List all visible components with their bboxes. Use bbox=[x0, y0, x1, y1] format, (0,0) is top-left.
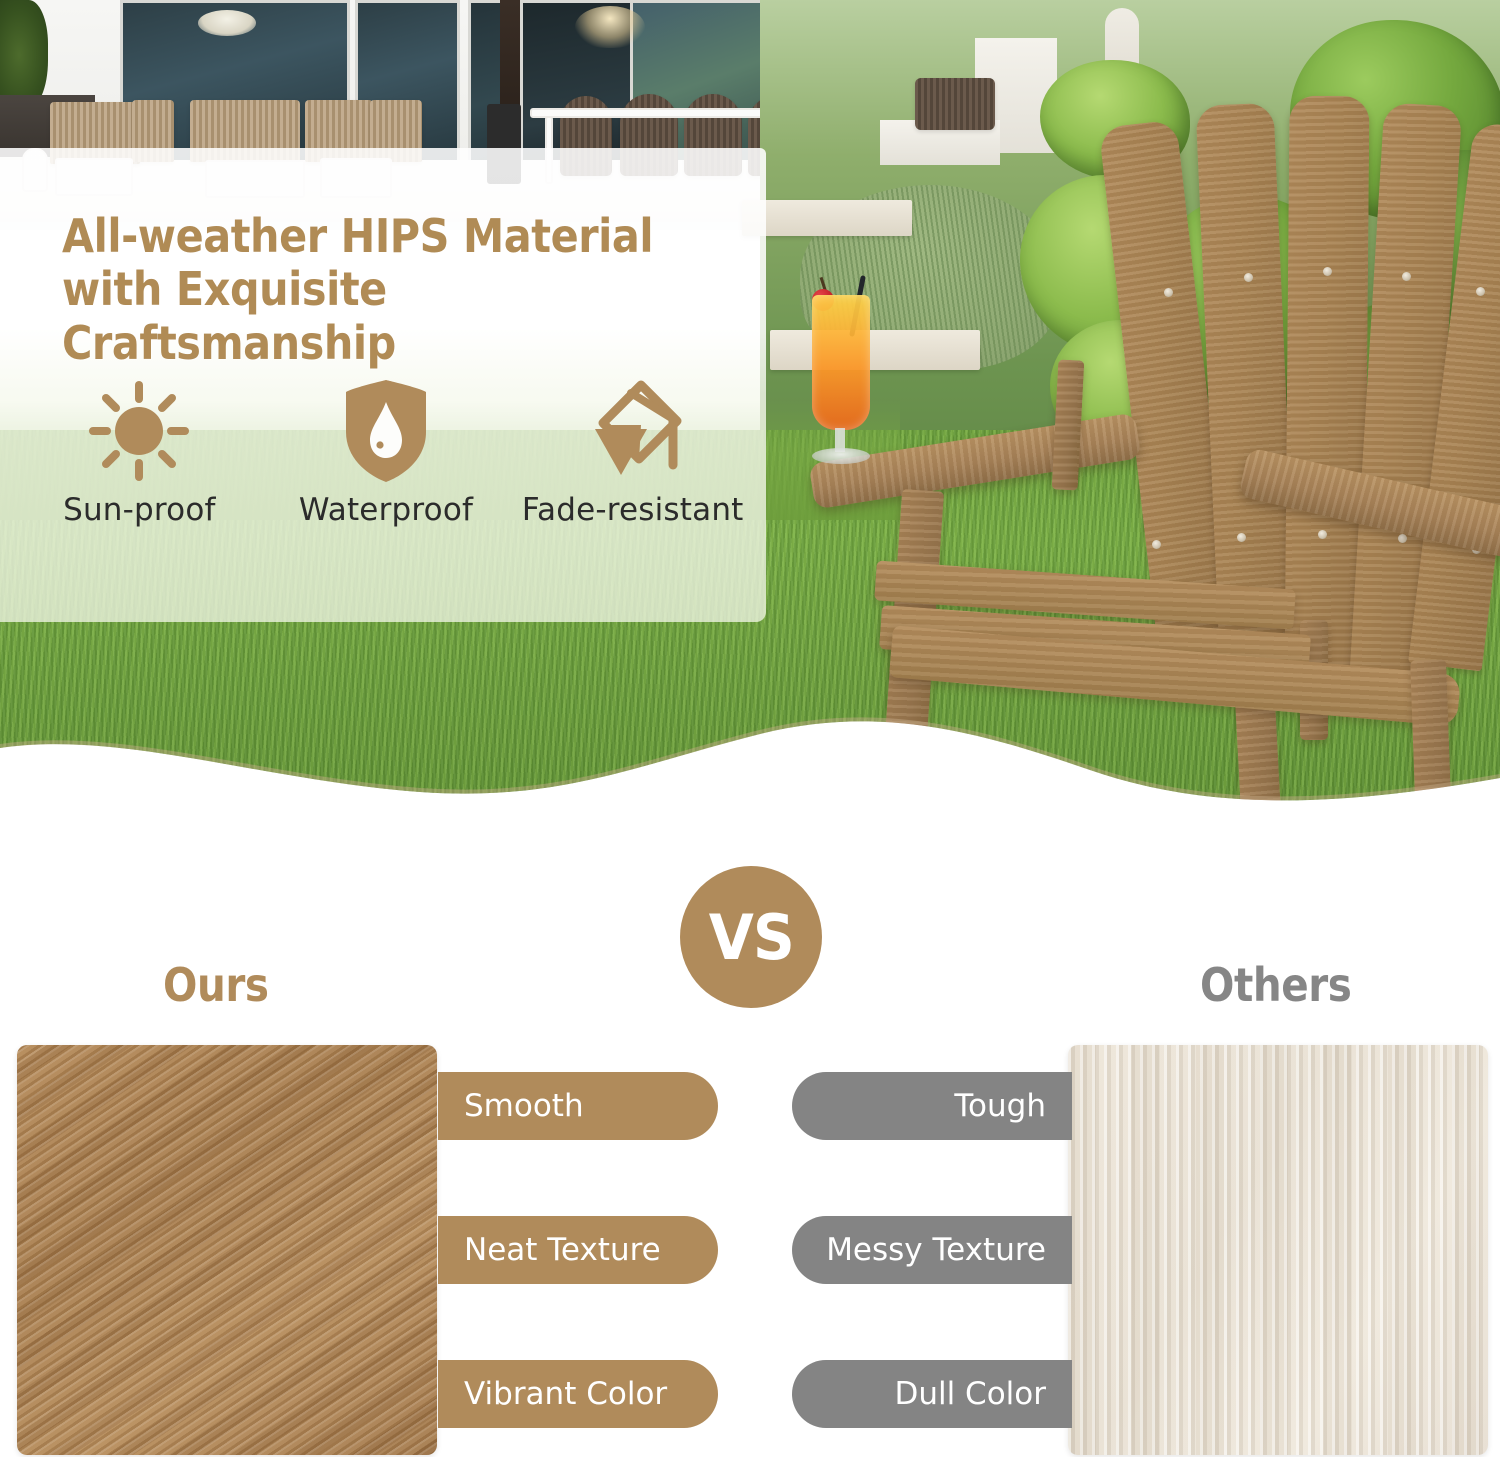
ours-pill-smooth: Smooth bbox=[438, 1072, 718, 1140]
ours-title: Ours bbox=[163, 958, 269, 1012]
headline-line-1: All-weather HIPS Material bbox=[62, 210, 683, 263]
shield-water-drop-icon bbox=[340, 376, 432, 486]
wave-divider bbox=[0, 660, 1500, 860]
sun-icon bbox=[87, 376, 191, 486]
others-title: Others bbox=[1200, 958, 1351, 1012]
feature-list: Sun-proof Waterproof bbox=[16, 376, 756, 528]
headline-line-2: with Exquisite Craftsmanship bbox=[62, 263, 683, 370]
chair-screw bbox=[1398, 534, 1407, 543]
feature-label: Sun-proof bbox=[63, 492, 216, 528]
ours-pill-vibrant-color: Vibrant Color bbox=[438, 1360, 718, 1428]
chair-screw bbox=[1402, 272, 1411, 281]
feature-overlay-panel: All-weather HIPS Material with Exquisite… bbox=[0, 148, 766, 622]
feature-label: Waterproof bbox=[299, 492, 473, 528]
chair-screw bbox=[1164, 288, 1173, 297]
chair-screw bbox=[1237, 533, 1246, 542]
feature-label: Fade-resistant bbox=[522, 492, 744, 528]
feature-sun-proof: Sun-proof bbox=[16, 376, 263, 528]
tree-foliage bbox=[0, 0, 48, 110]
vs-label: VS bbox=[708, 901, 793, 974]
product-infographic: All-weather HIPS Material with Exquisite… bbox=[0, 0, 1500, 1457]
ceiling-lamp bbox=[198, 10, 256, 36]
chair-support-left bbox=[1052, 359, 1085, 490]
pill-label: Smooth bbox=[464, 1088, 584, 1124]
page-title: All-weather HIPS Material with Exquisite… bbox=[62, 210, 683, 370]
cocktail-glass bbox=[812, 295, 870, 430]
chair-screw bbox=[1476, 287, 1485, 296]
paint-bucket-icon bbox=[581, 376, 685, 486]
glass-base bbox=[812, 448, 870, 464]
vs-badge: VS bbox=[680, 866, 822, 1008]
pill-label: Vibrant Color bbox=[464, 1376, 667, 1412]
ours-pill-neat-texture: Neat Texture bbox=[438, 1216, 718, 1284]
pill-label: Neat Texture bbox=[464, 1232, 661, 1268]
others-texture-swatch bbox=[1068, 1045, 1488, 1455]
others-pill-messy-texture: Messy Texture bbox=[792, 1216, 1072, 1284]
chandelier bbox=[575, 6, 645, 48]
chair-screw bbox=[1318, 530, 1327, 539]
ours-texture-swatch bbox=[17, 1045, 437, 1455]
pill-label: Dull Color bbox=[894, 1376, 1046, 1412]
others-pill-tough: Tough bbox=[792, 1072, 1072, 1140]
chair-screw bbox=[1152, 540, 1161, 549]
chair-screw bbox=[1323, 267, 1332, 276]
chair-screw bbox=[1244, 273, 1253, 282]
pill-label: Messy Texture bbox=[826, 1232, 1046, 1268]
feature-fade-resistant: Fade-resistant bbox=[509, 376, 756, 528]
others-pill-dull-color: Dull Color bbox=[792, 1360, 1072, 1428]
pill-label: Tough bbox=[954, 1088, 1046, 1124]
feature-waterproof: Waterproof bbox=[263, 376, 510, 528]
